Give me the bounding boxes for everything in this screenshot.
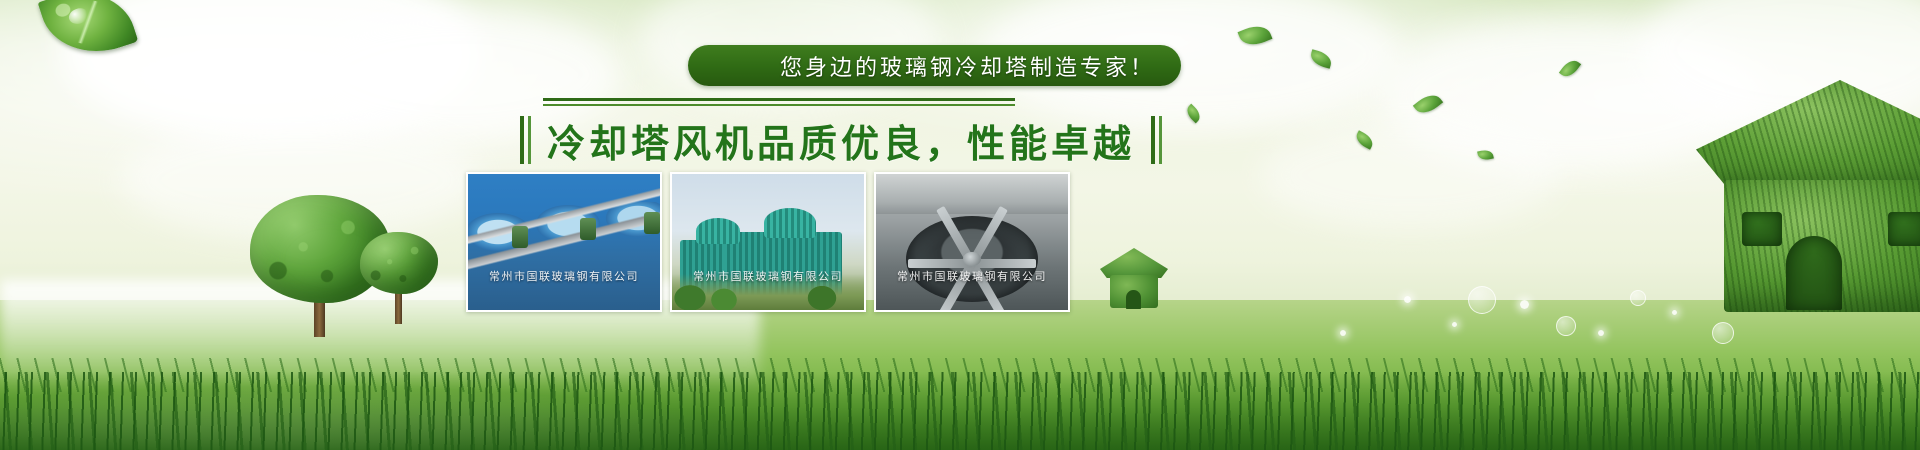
small-grass-house [1098, 248, 1170, 310]
flying-leaf-icon [1353, 130, 1375, 150]
tagline-text: 您身边的玻璃钢冷却塔制造专家！ [780, 50, 1155, 82]
grass-house-door [1126, 290, 1141, 309]
product-photo[interactable]: 常州市国联玻璃钢有限公司 [670, 172, 866, 312]
tagline-badge: 您身边的玻璃钢冷却塔制造专家！ [688, 45, 1181, 86]
motor-unit [644, 212, 660, 234]
bubble-icon [1468, 286, 1496, 314]
small-tree [360, 232, 438, 332]
flying-leaf-icon [1559, 57, 1581, 81]
bubble-icon [1556, 316, 1576, 336]
headline-rule-bottom [543, 104, 1015, 106]
product-photo[interactable]: 常州市国联玻璃钢有限公司 [874, 172, 1070, 312]
grass-house-roof [1696, 80, 1920, 192]
headline-bars-left [520, 116, 531, 164]
flying-leaf-icon [1238, 21, 1273, 50]
flying-leaf-icon [1413, 90, 1443, 119]
flying-leaf-icon [1308, 49, 1333, 69]
fan-shroud [906, 216, 1038, 302]
sparkle-icon [1672, 310, 1677, 315]
motor-unit [512, 226, 528, 248]
motor-unit [580, 218, 596, 240]
grass-house-window [1888, 212, 1920, 246]
grass-blades-strip [0, 372, 1920, 450]
bubble-icon [1712, 322, 1734, 344]
product-photo[interactable]: 常州市国联玻璃钢有限公司 [466, 172, 662, 312]
headline-bars-right [1151, 116, 1162, 164]
large-grass-house [1690, 80, 1920, 315]
tower-fan-stack [764, 208, 816, 238]
fan-blade [972, 259, 1036, 268]
headline-rules [543, 98, 1015, 106]
tower-fan-stack [696, 218, 740, 244]
promo-banner: 您身边的玻璃钢冷却塔制造专家！ 冷却塔风机品质优良，性能卓越 常州市国联玻璃钢有… [0, 0, 1920, 450]
teal-cooling-towers-factory-image [672, 174, 864, 310]
flying-leaf-icon [1477, 149, 1494, 162]
fan-hub [963, 252, 981, 266]
grass-house-roof [1100, 248, 1168, 278]
grass-house-door [1786, 236, 1842, 310]
tree-crown [360, 232, 438, 294]
headline-row: 冷却塔风机品质优良，性能卓越 [520, 112, 1162, 168]
grass-house-window [1742, 212, 1782, 246]
product-photo-strip: 常州市国联玻璃钢有限公司 常州市国联玻璃钢有限公司 [466, 172, 1070, 312]
sparkle-icon [1598, 330, 1604, 336]
sparkle-icon [1404, 296, 1411, 303]
flying-leaf-icon [1184, 104, 1204, 124]
leaf-icon [38, 0, 139, 67]
sparkle-icon [1452, 322, 1457, 327]
blue-cooling-tower-array-image [468, 174, 660, 310]
page-title: 冷却塔风机品质优良，性能卓越 [531, 113, 1151, 168]
foreground-trees [672, 274, 864, 310]
industrial-fan-assembly-image [876, 174, 1068, 310]
headline-rule-top [543, 98, 1015, 101]
fan-blade [936, 261, 976, 312]
cloud [1260, 120, 1560, 230]
bubble-icon [1630, 290, 1646, 306]
sparkle-icon [1340, 330, 1346, 336]
sparkle-icon [1520, 300, 1529, 309]
fan-housing-top [876, 174, 1068, 214]
